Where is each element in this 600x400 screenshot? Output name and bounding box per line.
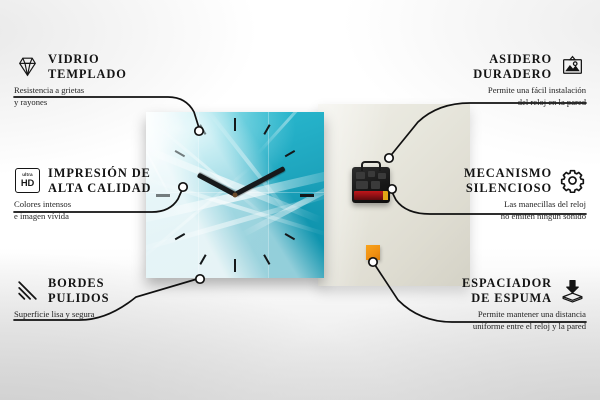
feature-header: BORDES PULIDOS [14,276,202,305]
feature-description: Permite una fácil instalación del reloj … [398,85,586,108]
diamond-icon [14,53,41,80]
feature-vidrio-templado[interactable]: VIDRIO TEMPLADO Resistencia a grietas y … [14,52,202,108]
feature-header: ASIDERO DURADERO [398,52,586,81]
hd-badge-hd: HD [21,178,34,187]
feature-espaciador-de-espuma[interactable]: ESPACIADOR DE ESPUMA Permite mantener un… [398,276,586,332]
feature-header: MECANISMO SILENCIOSO [398,166,586,195]
feature-title: MECANISMO SILENCIOSO [464,166,552,195]
callout-node-vidrio [195,127,203,135]
gear-icon [559,167,586,194]
feature-title: ASIDERO DURADERO [473,52,552,81]
feature-title: VIDRIO TEMPLADO [48,52,127,81]
feature-header: ultra HD IMPRESIÓN DE ALTA CALIDAD [14,166,202,195]
feature-impresion-alta-calidad[interactable]: ultra HD IMPRESIÓN DE ALTA CALIDAD Color… [14,166,202,222]
feature-header: VIDRIO TEMPLADO [14,52,202,81]
callout-node-mecanismo [388,185,396,193]
feature-bordes-pulidos[interactable]: BORDES PULIDOS Superficie lisa y segura [14,276,202,321]
feature-title: ESPACIADOR DE ESPUMA [462,276,552,305]
feature-description: Las manecillas del reloj no emiten ningú… [398,199,586,222]
infographic-canvas: VIDRIO TEMPLADO Resistencia a grietas y … [0,0,600,400]
feature-mecanismo-silencioso[interactable]: MECANISMO SILENCIOSO Las manecillas del … [398,166,586,222]
feature-description: Resistencia a grietas y rayones [14,85,202,108]
ultra-hd-icon: ultra HD [14,167,41,194]
callout-node-asidero [385,154,393,162]
feature-header: ESPACIADOR DE ESPUMA [398,276,586,305]
feature-description: Colores intensos e imagen vívida [14,199,202,222]
feature-description: Superficie lisa y segura [14,309,202,320]
callout-node-espaciador [369,258,377,266]
feature-title: BORDES PULIDOS [48,276,109,305]
feature-description: Permite mantener una distancia uniforme … [398,309,586,332]
feature-title: IMPRESIÓN DE ALTA CALIDAD [48,166,151,195]
wall-hanger-icon [559,53,586,80]
feature-asidero-duradero[interactable]: ASIDERO DURADERO Permite una fácil insta… [398,52,586,108]
polished-edge-icon [14,277,41,304]
foam-spacer-icon [559,277,586,304]
